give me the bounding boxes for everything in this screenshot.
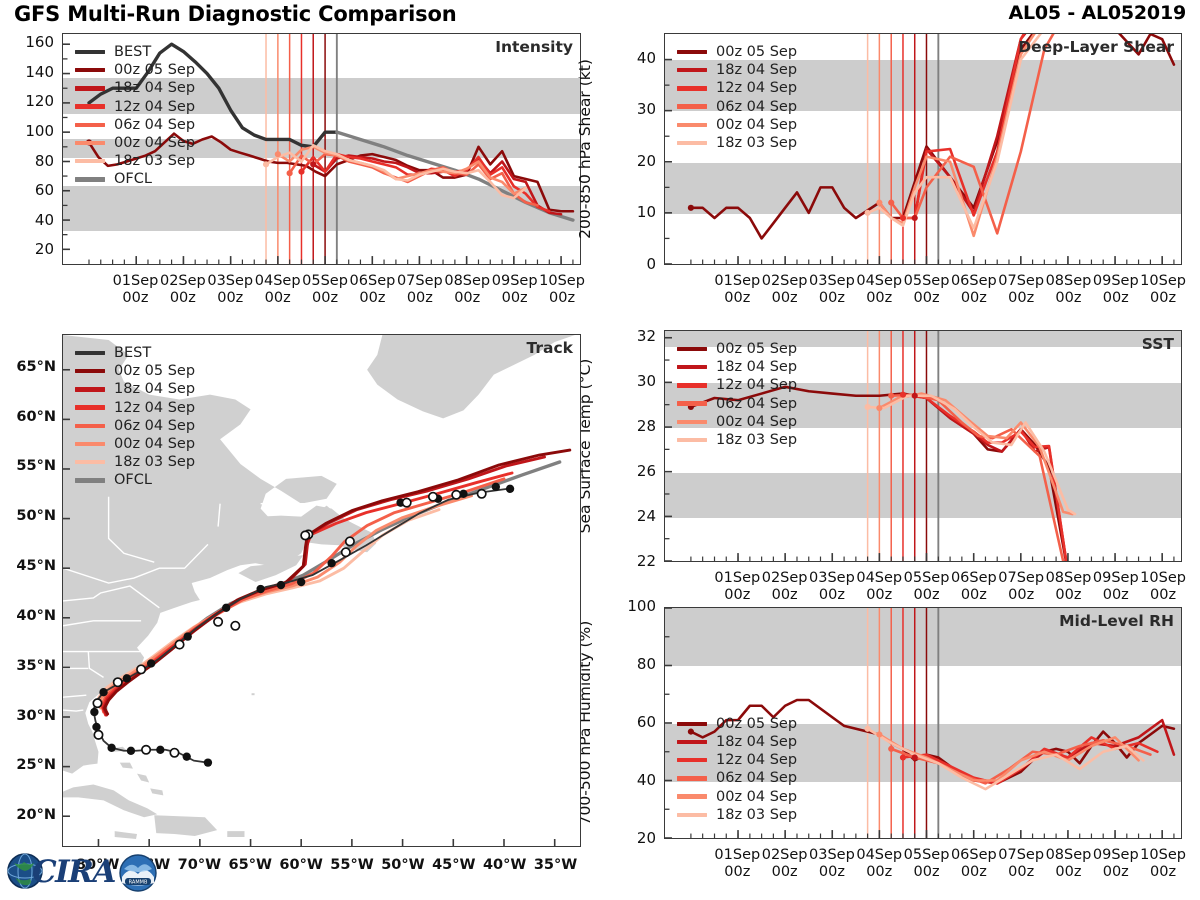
ytick-intensity-4: 100 bbox=[0, 122, 54, 140]
legend-item-sst-1[interactable]: 18z 04 Sep bbox=[677, 358, 797, 376]
legend-label-sst-4: 00z 04 Sep bbox=[716, 414, 797, 430]
lat-tick-1: 25°N bbox=[0, 757, 56, 773]
legend-item-intensity-6[interactable]: 18z 03 Sep bbox=[75, 152, 195, 170]
panel-title-sst: SST bbox=[1142, 335, 1174, 353]
legend-swatch-shear-4 bbox=[677, 123, 707, 127]
lat-tick-2: 30°N bbox=[0, 708, 56, 724]
legend-swatch-intensity-4 bbox=[75, 123, 105, 127]
legend-item-rh-0[interactable]: 00z 05 Sep bbox=[677, 715, 797, 733]
legend-item-track-7[interactable]: OFCL bbox=[75, 471, 195, 489]
legend-swatch-rh-2 bbox=[677, 758, 707, 762]
legend-item-intensity-0[interactable]: BEST bbox=[75, 43, 195, 61]
legend-swatch-sst-2 bbox=[677, 383, 707, 387]
legend-item-track-0[interactable]: BEST bbox=[75, 344, 195, 362]
lon-tick-9: 35°W bbox=[524, 857, 588, 873]
legend-label-shear-0: 00z 05 Sep bbox=[716, 44, 797, 60]
ytick-sst-3: 28 bbox=[602, 417, 656, 435]
legend-swatch-intensity-7 bbox=[75, 177, 105, 181]
ytick-rh-0: 20 bbox=[602, 829, 656, 847]
legend-swatch-track-4 bbox=[75, 424, 105, 428]
legend-item-rh-1[interactable]: 18z 04 Sep bbox=[677, 733, 797, 751]
ytick-rh-3: 80 bbox=[602, 655, 656, 673]
legend-item-sst-3[interactable]: 06z 04 Sep bbox=[677, 395, 797, 413]
legend-swatch-intensity-2 bbox=[75, 86, 105, 90]
legend-label-rh-4: 00z 04 Sep bbox=[716, 789, 797, 805]
legend-swatch-intensity-3 bbox=[75, 104, 105, 108]
legend-item-intensity-7[interactable]: OFCL bbox=[75, 170, 195, 188]
legend-item-track-5[interactable]: 00z 04 Sep bbox=[75, 435, 195, 453]
legend-label-shear-3: 06z 04 Sep bbox=[716, 99, 797, 115]
legend-item-rh-4[interactable]: 00z 04 Sep bbox=[677, 788, 797, 806]
legend-item-shear-2[interactable]: 12z 04 Sep bbox=[677, 79, 797, 97]
lat-tick-5: 45°N bbox=[0, 558, 56, 574]
panel-track[interactable]: Track BEST00z 05 Sep18z 04 Sep12z 04 Sep… bbox=[62, 334, 581, 847]
legend-rh: 00z 05 Sep18z 04 Sep12z 04 Sep06z 04 Sep… bbox=[677, 715, 797, 824]
legend-track: BEST00z 05 Sep18z 04 Sep12z 04 Sep06z 04… bbox=[75, 344, 195, 490]
legend-label-sst-2: 12z 04 Sep bbox=[716, 377, 797, 393]
panel-title-track: Track bbox=[527, 339, 573, 357]
legend-swatch-track-0 bbox=[75, 351, 105, 355]
ytick-sst-5: 32 bbox=[602, 327, 656, 345]
ytick-intensity-5: 120 bbox=[0, 92, 54, 110]
legend-item-intensity-1[interactable]: 00z 05 Sep bbox=[75, 61, 195, 79]
legend-swatch-intensity-6 bbox=[75, 159, 105, 163]
legend-item-intensity-4[interactable]: 06z 04 Sep bbox=[75, 116, 195, 134]
panel-rh: Mid-Level RH 00z 05 Sep18z 04 Sep12z 04 … bbox=[664, 607, 1182, 839]
legend-swatch-track-1 bbox=[75, 369, 105, 373]
ytick-intensity-1: 40 bbox=[0, 211, 54, 229]
cira-logo: CIRA RAMMB bbox=[6, 851, 52, 897]
ytick-shear-0: 0 bbox=[602, 255, 656, 273]
legend-item-rh-3[interactable]: 06z 04 Sep bbox=[677, 769, 797, 787]
legend-item-sst-5[interactable]: 18z 03 Sep bbox=[677, 431, 797, 449]
ytick-rh-2: 60 bbox=[602, 713, 656, 731]
ytick-intensity-3: 80 bbox=[0, 152, 54, 170]
legend-label-sst-0: 00z 05 Sep bbox=[716, 341, 797, 357]
storm-identifier: AL05 - AL052019 bbox=[1008, 2, 1186, 24]
legend-item-track-3[interactable]: 12z 04 Sep bbox=[75, 399, 195, 417]
legend-item-sst-4[interactable]: 00z 04 Sep bbox=[677, 413, 797, 431]
legend-item-shear-4[interactable]: 00z 04 Sep bbox=[677, 116, 797, 134]
legend-label-intensity-2: 18z 04 Sep bbox=[114, 80, 195, 96]
legend-swatch-intensity-0 bbox=[75, 50, 105, 54]
panel-sst: SST 00z 05 Sep18z 04 Sep12z 04 Sep06z 04… bbox=[664, 330, 1182, 562]
ytick-sst-0: 22 bbox=[602, 552, 656, 570]
legend-label-rh-1: 18z 04 Sep bbox=[716, 734, 797, 750]
ytick-shear-3: 30 bbox=[602, 100, 656, 118]
xtick-shear-9: 10Sep00z bbox=[1127, 273, 1199, 307]
lat-tick-4: 40°N bbox=[0, 608, 56, 624]
legend-label-intensity-4: 06z 04 Sep bbox=[114, 117, 195, 133]
legend-label-intensity-6: 18z 03 Sep bbox=[114, 153, 195, 169]
legend-item-sst-2[interactable]: 12z 04 Sep bbox=[677, 376, 797, 394]
rammb-disc-icon: RAMMB bbox=[118, 853, 158, 893]
legend-item-shear-5[interactable]: 18z 03 Sep bbox=[677, 134, 797, 152]
legend-label-rh-5: 18z 03 Sep bbox=[716, 807, 797, 823]
legend-label-rh-0: 00z 05 Sep bbox=[716, 716, 797, 732]
legend-swatch-track-3 bbox=[75, 405, 105, 409]
legend-item-intensity-3[interactable]: 12z 04 Sep bbox=[75, 98, 195, 116]
legend-item-shear-0[interactable]: 00z 05 Sep bbox=[677, 43, 797, 61]
legend-item-intensity-2[interactable]: 18z 04 Sep bbox=[75, 79, 195, 97]
legend-label-track-6: 18z 03 Sep bbox=[114, 454, 195, 470]
legend-swatch-shear-1 bbox=[677, 68, 707, 72]
svg-text:RAMMB: RAMMB bbox=[129, 880, 148, 886]
legend-label-track-3: 12z 04 Sep bbox=[114, 400, 195, 416]
lat-tick-3: 35°N bbox=[0, 658, 56, 674]
legend-label-intensity-0: BEST bbox=[114, 44, 151, 60]
lat-tick-6: 50°N bbox=[0, 508, 56, 524]
ytick-intensity-0: 20 bbox=[0, 240, 54, 258]
legend-label-sst-1: 18z 04 Sep bbox=[716, 359, 797, 375]
ytick-sst-4: 30 bbox=[602, 372, 656, 390]
ytick-intensity-2: 60 bbox=[0, 181, 54, 199]
legend-label-intensity-7: OFCL bbox=[114, 171, 152, 187]
legend-swatch-sst-0 bbox=[677, 347, 707, 351]
legend-item-sst-0[interactable]: 00z 05 Sep bbox=[677, 340, 797, 358]
legend-swatch-track-5 bbox=[75, 442, 105, 446]
legend-swatch-shear-2 bbox=[677, 86, 707, 90]
lat-tick-9: 65°N bbox=[0, 359, 56, 375]
legend-label-intensity-5: 00z 04 Sep bbox=[114, 135, 195, 151]
xtick-rh-9: 10Sep00z bbox=[1127, 847, 1199, 881]
legend-item-track-1[interactable]: 00z 05 Sep bbox=[75, 362, 195, 380]
legend-intensity: BEST00z 05 Sep18z 04 Sep12z 04 Sep06z 04… bbox=[75, 43, 195, 189]
legend-label-shear-4: 00z 04 Sep bbox=[716, 117, 797, 133]
legend-label-track-5: 00z 04 Sep bbox=[114, 436, 195, 452]
ytick-rh-4: 100 bbox=[602, 597, 656, 615]
legend-label-track-0: BEST bbox=[114, 345, 151, 361]
panel-title-shear: Deep-Layer Shear bbox=[1018, 38, 1174, 56]
legend-shear: 00z 05 Sep18z 04 Sep12z 04 Sep06z 04 Sep… bbox=[677, 43, 797, 152]
legend-item-track-2[interactable]: 18z 04 Sep bbox=[75, 380, 195, 398]
legend-item-shear-1[interactable]: 18z 04 Sep bbox=[677, 61, 797, 79]
legend-label-track-4: 06z 04 Sep bbox=[114, 418, 195, 434]
panel-title-rh: Mid-Level RH bbox=[1059, 612, 1174, 630]
lat-tick-0: 20°N bbox=[0, 807, 56, 823]
lat-tick-7: 55°N bbox=[0, 458, 56, 474]
ytick-intensity-7: 160 bbox=[0, 33, 54, 51]
legend-label-rh-2: 12z 04 Sep bbox=[716, 752, 797, 768]
ytick-shear-2: 20 bbox=[602, 152, 656, 170]
panel-title-intensity: Intensity bbox=[495, 38, 573, 56]
legend-swatch-track-2 bbox=[75, 387, 105, 391]
legend-label-track-2: 18z 04 Sep bbox=[114, 381, 195, 397]
legend-swatch-rh-0 bbox=[677, 722, 707, 726]
legend-swatch-sst-1 bbox=[677, 365, 707, 369]
legend-item-rh-5[interactable]: 18z 03 Sep bbox=[677, 806, 797, 824]
xtick-sst-9: 10Sep00z bbox=[1127, 570, 1199, 604]
legend-swatch-rh-4 bbox=[677, 794, 707, 798]
ytick-sst-2: 26 bbox=[602, 462, 656, 480]
xtick-intensity-9: 10Sep00z bbox=[526, 273, 598, 307]
ytick-rh-1: 40 bbox=[602, 771, 656, 789]
legend-swatch-sst-5 bbox=[677, 438, 707, 442]
legend-swatch-shear-0 bbox=[677, 50, 707, 54]
legend-swatch-track-6 bbox=[75, 460, 105, 464]
ytick-shear-1: 10 bbox=[602, 203, 656, 221]
legend-swatch-intensity-1 bbox=[75, 68, 105, 72]
legend-swatch-rh-3 bbox=[677, 776, 707, 780]
legend-swatch-rh-5 bbox=[677, 813, 707, 817]
legend-item-shear-3[interactable]: 06z 04 Sep bbox=[677, 98, 797, 116]
panel-shear: Deep-Layer Shear 00z 05 Sep18z 04 Sep12z… bbox=[664, 33, 1182, 265]
page-title: GFS Multi-Run Diagnostic Comparison bbox=[14, 2, 456, 26]
legend-swatch-intensity-5 bbox=[75, 141, 105, 145]
legend-label-shear-2: 12z 04 Sep bbox=[716, 80, 797, 96]
legend-label-shear-5: 18z 03 Sep bbox=[716, 135, 797, 151]
ytick-sst-1: 24 bbox=[602, 507, 656, 525]
legend-label-track-7: OFCL bbox=[114, 472, 152, 488]
lat-tick-8: 60°N bbox=[0, 409, 56, 425]
ytick-shear-4: 40 bbox=[602, 49, 656, 67]
legend-label-shear-1: 18z 04 Sep bbox=[716, 62, 797, 78]
legend-item-track-6[interactable]: 18z 03 Sep bbox=[75, 453, 195, 471]
legend-swatch-rh-1 bbox=[677, 740, 707, 744]
legend-label-sst-3: 06z 04 Sep bbox=[716, 396, 797, 412]
legend-swatch-shear-3 bbox=[677, 104, 707, 108]
legend-item-intensity-5[interactable]: 00z 04 Sep bbox=[75, 134, 195, 152]
legend-item-track-4[interactable]: 06z 04 Sep bbox=[75, 417, 195, 435]
ytick-intensity-6: 140 bbox=[0, 63, 54, 81]
legend-swatch-sst-3 bbox=[677, 401, 707, 405]
legend-sst: 00z 05 Sep18z 04 Sep12z 04 Sep06z 04 Sep… bbox=[677, 340, 797, 449]
legend-swatch-track-7 bbox=[75, 478, 105, 482]
legend-swatch-sst-4 bbox=[677, 420, 707, 424]
legend-label-rh-3: 06z 04 Sep bbox=[716, 770, 797, 786]
legend-label-track-1: 00z 05 Sep bbox=[114, 363, 195, 379]
legend-item-rh-2[interactable]: 12z 04 Sep bbox=[677, 751, 797, 769]
legend-label-sst-5: 18z 03 Sep bbox=[716, 432, 797, 448]
cira-wordmark: CIRA bbox=[32, 854, 115, 890]
legend-label-intensity-3: 12z 04 Sep bbox=[114, 99, 195, 115]
legend-swatch-shear-5 bbox=[677, 141, 707, 145]
panel-intensity: Intensity BEST00z 05 Sep18z 04 Sep12z 04… bbox=[62, 33, 581, 265]
legend-label-intensity-1: 00z 05 Sep bbox=[114, 62, 195, 78]
